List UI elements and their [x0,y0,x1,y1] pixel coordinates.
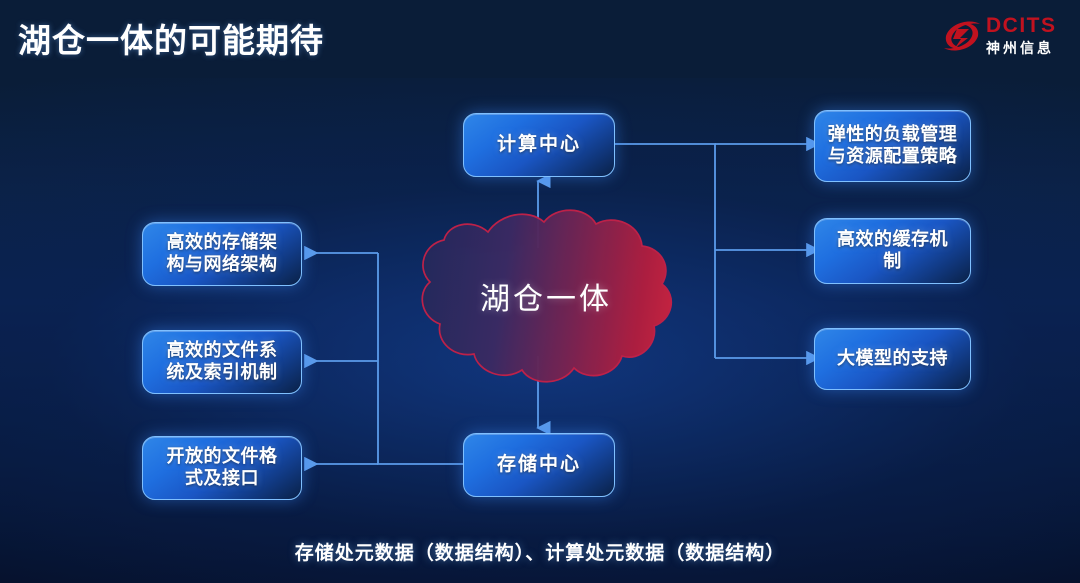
node-compute-center[interactable]: 计算中心 [463,113,615,177]
node-storage-architecture[interactable]: 高效的存储架 构与网络架构 [142,222,302,286]
node-efficient-cache-label: 高效的缓存机 制 [829,229,956,273]
node-storage-center[interactable]: 存储中心 [463,433,615,497]
cloud-label: 湖仓一体 [396,274,696,318]
node-compute-center-label: 计算中心 [489,133,589,156]
node-file-system[interactable]: 高效的文件系 统及索引机制 [142,330,302,394]
node-llm-support-label: 大模型的支持 [829,348,956,370]
slide-canvas: 湖仓一体的可能期待 DCITS 神州信息 [0,0,1080,583]
node-elastic-workload-label: 弹性的负载管理 与资源配置策略 [820,124,966,168]
slide-caption: 存储处元数据（数据结构）、计算处元数据（数据结构） [0,538,1080,565]
node-storage-center-label: 存储中心 [489,453,589,476]
node-elastic-workload[interactable]: 弹性的负载管理 与资源配置策略 [814,110,971,182]
node-llm-support[interactable]: 大模型的支持 [814,328,971,390]
node-storage-architecture-label: 高效的存储架 构与网络架构 [159,232,286,276]
node-file-system-label: 高效的文件系 统及索引机制 [159,340,286,384]
node-open-file-format[interactable]: 开放的文件格 式及接口 [142,436,302,500]
node-efficient-cache[interactable]: 高效的缓存机 制 [814,218,971,284]
node-open-file-format-label: 开放的文件格 式及接口 [159,446,286,490]
